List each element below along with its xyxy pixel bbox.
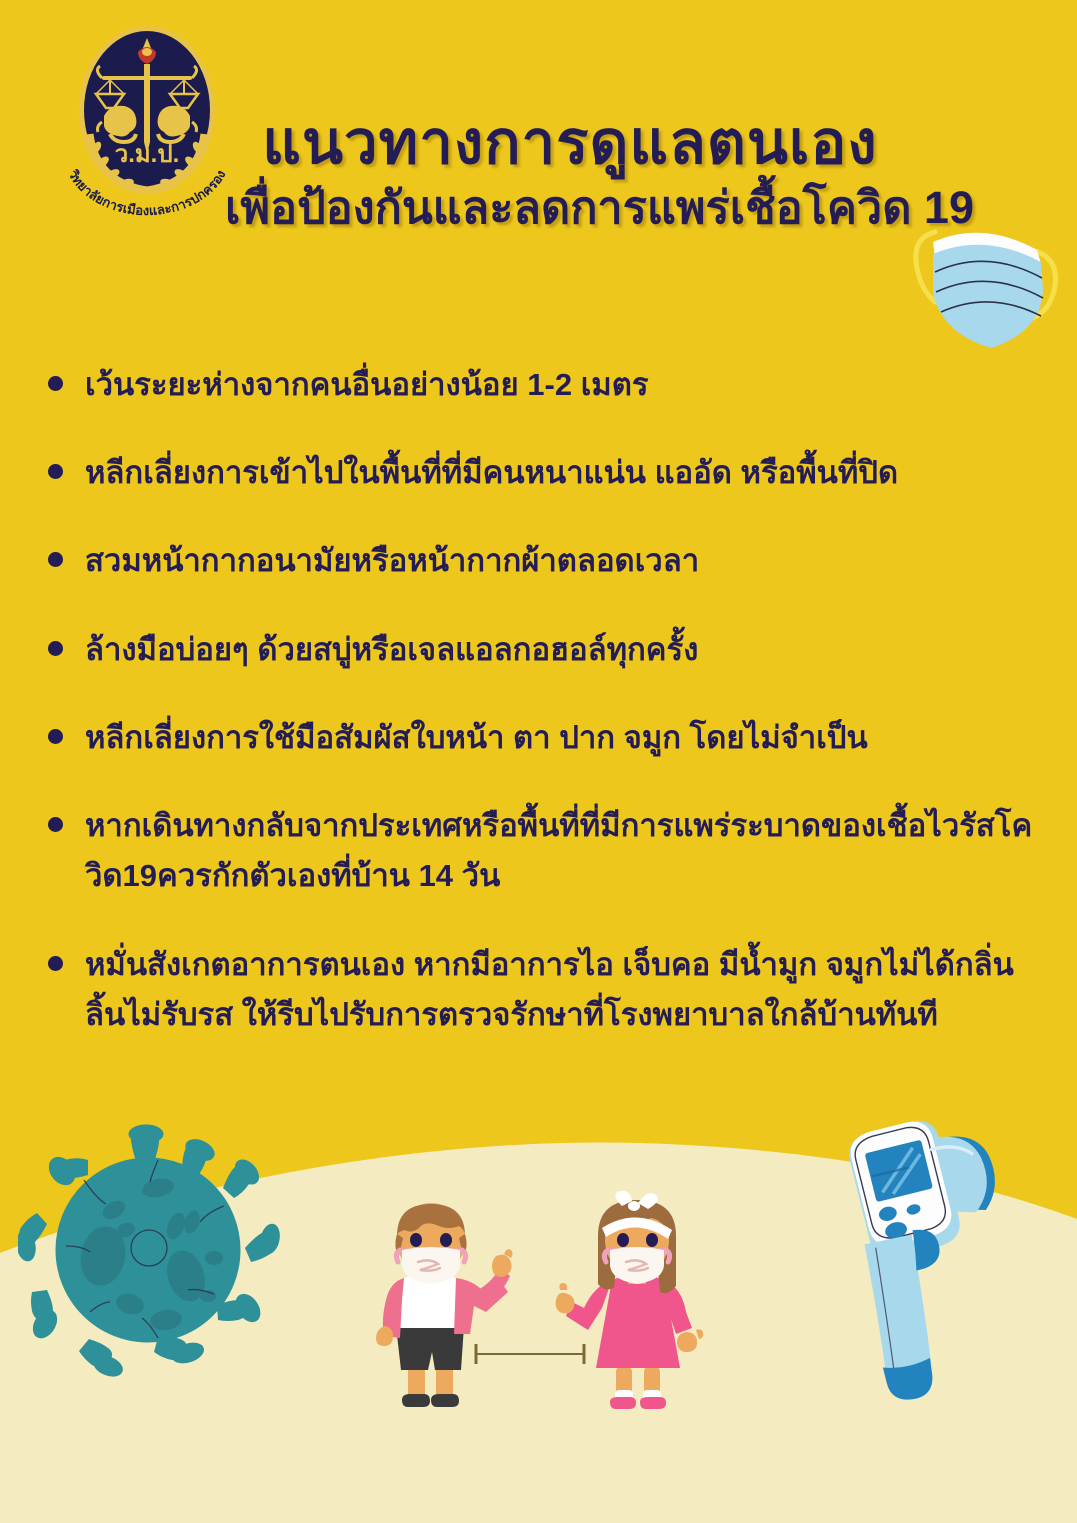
- social-distance-measure-line: [470, 1340, 590, 1370]
- infrared-thermometer-illustration: [838, 1105, 1056, 1425]
- list-item: หมั่นสังเกตอาการตนเอง หากมีอาการไอ เจ็บค…: [48, 940, 1048, 1040]
- poster-title: แนวทางการดูแลตนเอง: [225, 110, 915, 176]
- prevention-tips-list: เว้นระยะห่างจากคนอื่นอย่างน้อย 1-2 เมตร …: [48, 360, 1048, 1078]
- list-item: ล้างมือบ่อยๆ ด้วยสบู่หรือเจลแอลกอฮอล์ทุก…: [48, 625, 1048, 675]
- tip-text: เว้นระยะห่างจากคนอื่นอย่างน้อย 1-2 เมตร: [85, 360, 649, 410]
- tip-text: สวมหน้ากากอนามัยหรือหน้ากากผ้าตลอดเวลา: [85, 536, 699, 586]
- bullet-dot-icon: [48, 552, 63, 567]
- bullet-dot-icon: [48, 729, 63, 744]
- logo-abbreviation: ว.ม.ป.: [115, 141, 180, 168]
- bullet-dot-icon: [48, 817, 63, 832]
- title-block: แนวทางการดูแลตนเอง เพื่อป้องกันและลดการแ…: [225, 110, 915, 234]
- list-item: หากเดินทางกลับจากประเทศหรือพื้นที่ที่มีก…: [48, 801, 1048, 901]
- list-item: เว้นระยะห่างจากคนอื่นอย่างน้อย 1-2 เมตร: [48, 360, 1048, 410]
- institution-logo: ว.ม.ป. วิทยาลัยการเมืองและการปกครอง: [52, 22, 242, 217]
- bullet-dot-icon: [48, 376, 63, 391]
- poster-subtitle: เพื่อป้องกันและลดการแพร่เชื้อโควิด 19: [225, 182, 915, 234]
- girl-with-mask-illustration: [552, 1190, 722, 1425]
- poster-canvas: ว.ม.ป. วิทยาลัยการเมืองและการปกครอง แนวท…: [0, 0, 1077, 1523]
- logo-emblem-icon: ว.ม.ป. วิทยาลัยการเมืองและการปกครอง: [52, 22, 242, 217]
- tip-text: ล้างมือบ่อยๆ ด้วยสบู่หรือเจลแอลกอฮอล์ทุก…: [85, 625, 698, 675]
- list-item: หลีกเลี่ยงการใช้มือสัมผัสใบหน้า ตา ปาก จ…: [48, 713, 1048, 763]
- bullet-dot-icon: [48, 464, 63, 479]
- bullet-dot-icon: [48, 641, 63, 656]
- tip-text: หากเดินทางกลับจากประเทศหรือพื้นที่ที่มีก…: [85, 801, 1048, 901]
- tip-text: หลีกเลี่ยงการเข้าไปในพื้นที่ที่มีคนหนาแน…: [85, 448, 898, 498]
- coronavirus-illustration: [18, 1118, 288, 1393]
- tip-text: หลีกเลี่ยงการใช้มือสัมผัสใบหน้า ตา ปาก จ…: [85, 713, 868, 763]
- boy-with-mask-illustration: [352, 1192, 517, 1424]
- list-item: สวมหน้ากากอนามัยหรือหน้ากากผ้าตลอดเวลา: [48, 536, 1048, 586]
- list-item: หลีกเลี่ยงการเข้าไปในพื้นที่ที่มีคนหนาแน…: [48, 448, 1048, 498]
- bullet-dot-icon: [48, 956, 63, 971]
- tip-text: หมั่นสังเกตอาการตนเอง หากมีอาการไอ เจ็บค…: [85, 940, 1048, 1040]
